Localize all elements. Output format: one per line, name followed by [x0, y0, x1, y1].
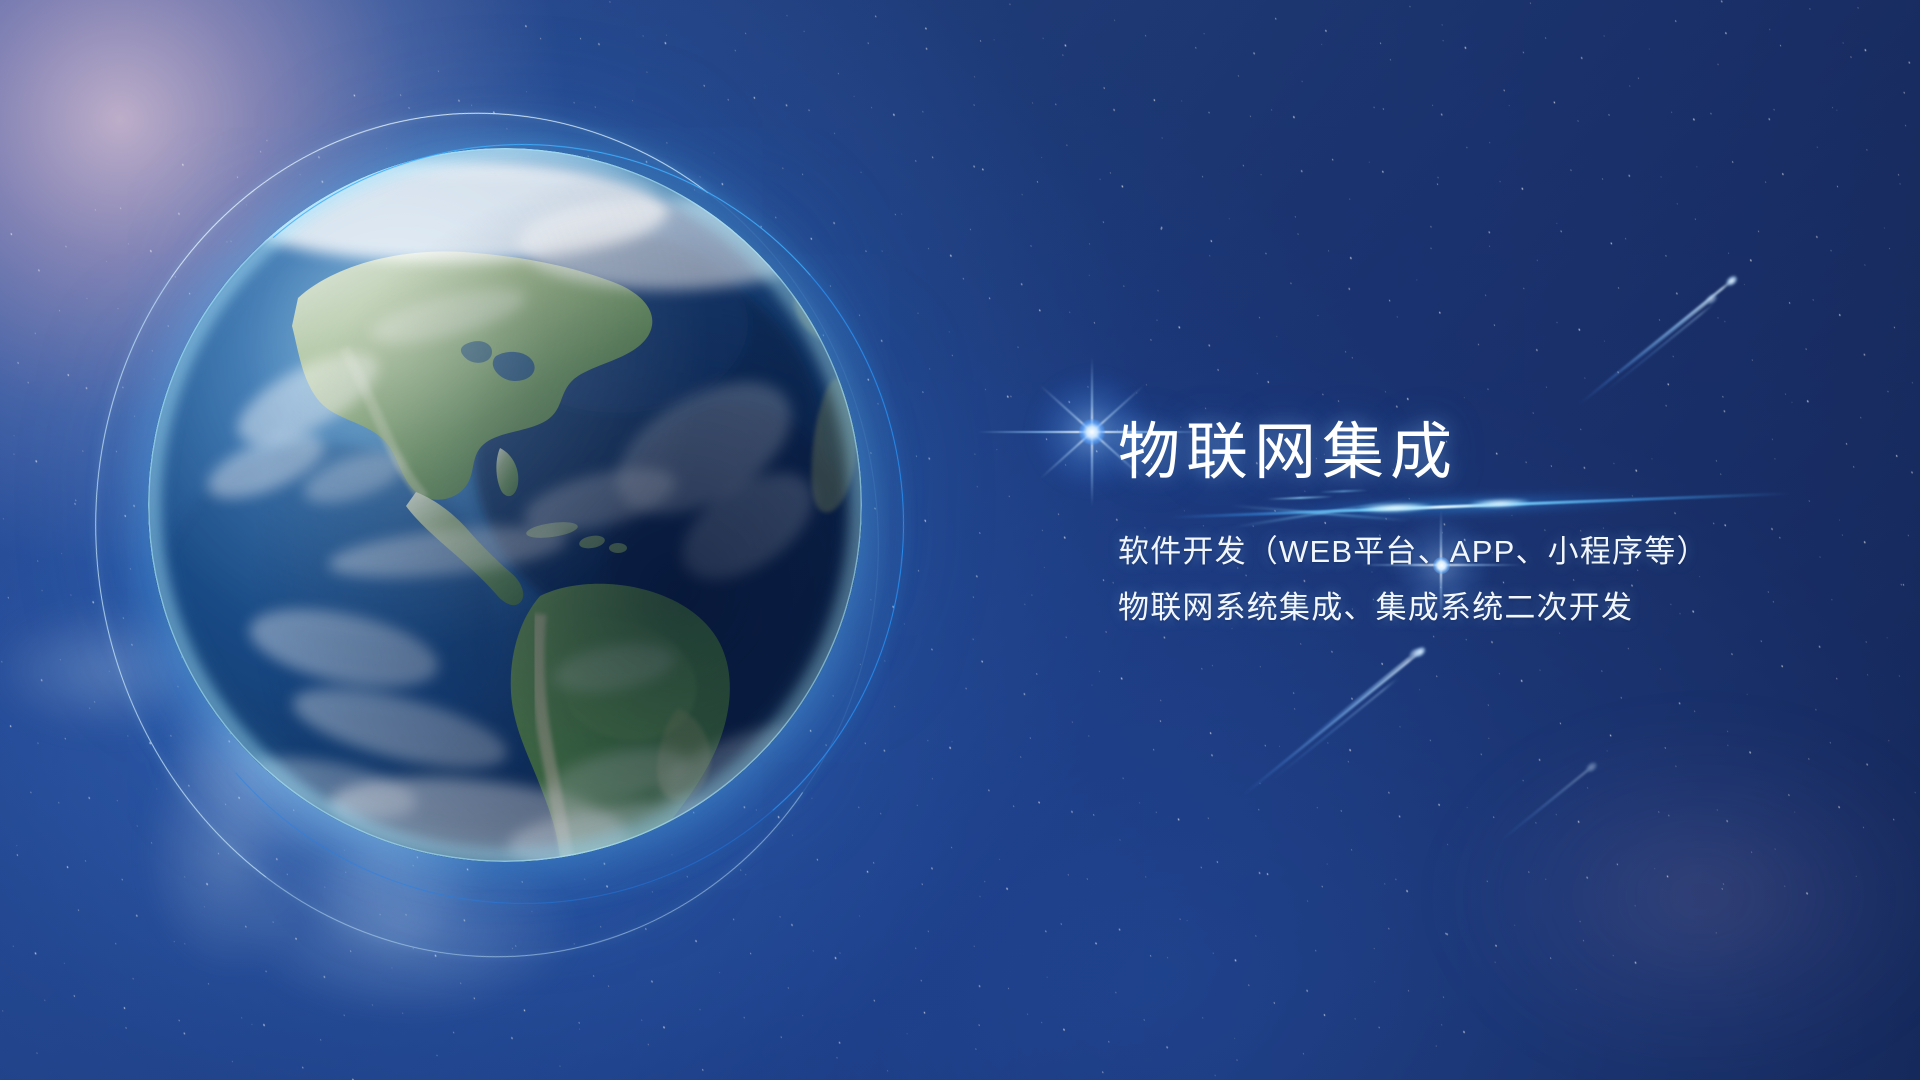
flare-streak-vertical: [1091, 357, 1093, 507]
meteor-icon: [1243, 649, 1422, 794]
meteor-trail-secondary: [1604, 304, 1714, 393]
meteor-icon: [1620, 296, 1713, 372]
banner-subline-1: 软件开发（WEB平台、APP、小程序等）: [1118, 533, 1878, 570]
globe-sphere: [148, 148, 862, 862]
meteor-icon: [1578, 278, 1733, 404]
meteor-head: [1704, 292, 1718, 306]
meteor-icon: [1300, 651, 1417, 745]
meteor-head: [1584, 760, 1598, 774]
meteor-trail: [1620, 296, 1715, 373]
flare-core: [1079, 419, 1105, 445]
corner-haze: [1360, 680, 1920, 1080]
meteor-trail-secondary: [1272, 678, 1398, 780]
earth-globe: [148, 148, 862, 862]
meteor-trail: [1578, 278, 1735, 406]
meteor-trail: [1243, 649, 1423, 795]
banner-text-block: 物联网集成 软件开发（WEB平台、APP、小程序等） 物联网系统集成、集成系统二…: [1118, 418, 1878, 626]
banner-headline: 物联网集成: [1118, 418, 1878, 487]
meteor-head: [1725, 274, 1739, 288]
meteor-head: [1408, 646, 1422, 660]
meteor-trail: [1300, 651, 1418, 747]
meteor-icon: [1500, 764, 1593, 840]
meteor-head: [1413, 645, 1427, 659]
hero-banner: 物联网集成 软件开发（WEB平台、APP、小程序等） 物联网系统集成、集成系统二…: [0, 0, 1920, 1080]
meteor-trail: [1500, 764, 1595, 841]
banner-subline-2: 物联网系统集成、集成系统二次开发: [1118, 589, 1878, 626]
